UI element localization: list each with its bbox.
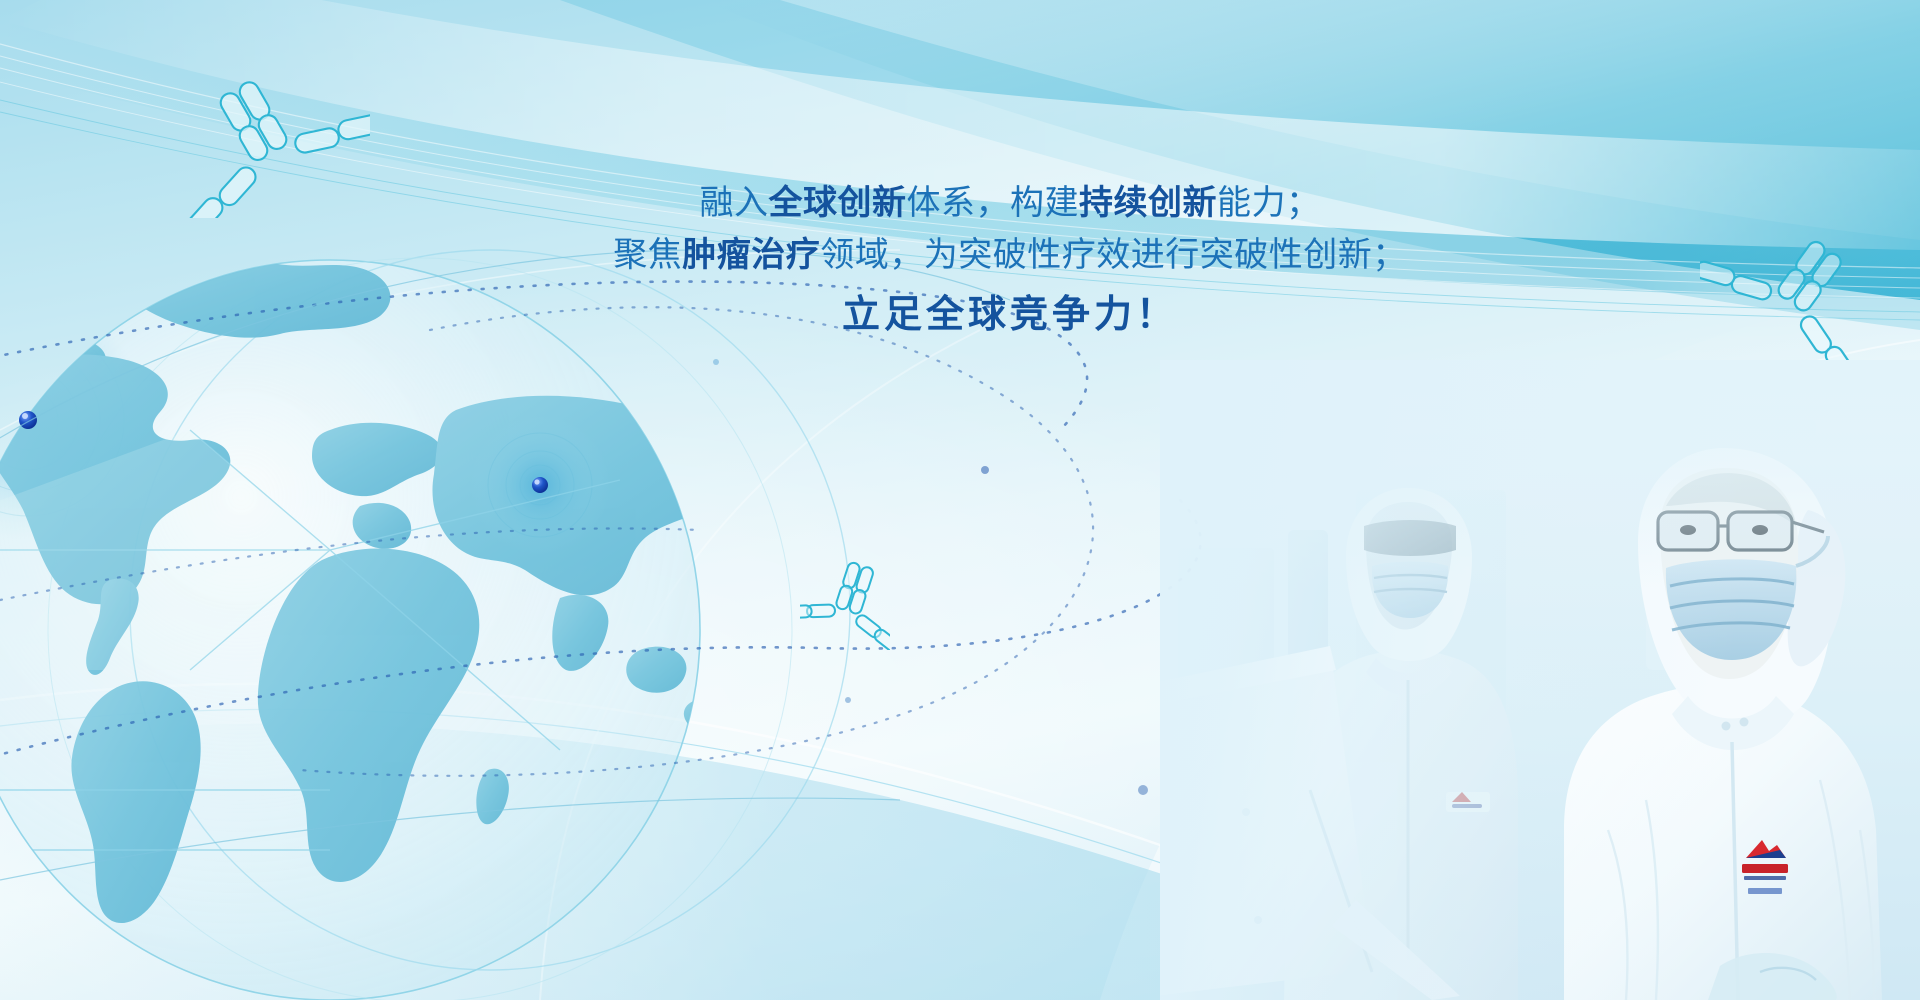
headline-l1-seg5: 能力； (1217, 184, 1321, 222)
headline-l1-seg2: 全球创新 (769, 184, 907, 222)
hero-banner: 融入全球创新体系，构建持续创新能力； 聚焦肿瘤治疗领域，为突破性疗效进行突破性创… (0, 0, 1920, 1000)
headline-l2-seg3: 领域，为突破性疗效进行突破性创新； (820, 236, 1407, 274)
headline-l1-seg1: 融入 (700, 184, 769, 222)
world-globe-graphic (0, 230, 920, 1000)
headline-block: 融入全球创新体系，构建持续创新能力； 聚焦肿瘤治疗领域，为突破性疗效进行突破性创… (560, 178, 1460, 345)
headline-l2-seg1: 聚焦 (613, 236, 682, 274)
antibody-icon (1700, 232, 1880, 367)
headline-l2-seg2: 肿瘤治疗 (682, 236, 820, 274)
headline-line-2: 聚焦肿瘤治疗领域，为突破性疗效进行突破性创新； (560, 230, 1460, 282)
antibody-icon (160, 78, 370, 218)
headline-l1-seg3: 体系，构建 (907, 184, 1080, 222)
headline-l1-seg4: 持续创新 (1079, 184, 1217, 222)
headline-line-1: 融入全球创新体系，构建持续创新能力； (560, 178, 1460, 230)
headline-line-3: 立足全球竞争力！ (560, 287, 1460, 345)
marker-asia (532, 477, 548, 493)
lab-technicians-photo (1160, 360, 1920, 1000)
antibody-icon (800, 560, 890, 650)
headline-l3-seg1: 立足全球竞争力！ (842, 294, 1178, 336)
